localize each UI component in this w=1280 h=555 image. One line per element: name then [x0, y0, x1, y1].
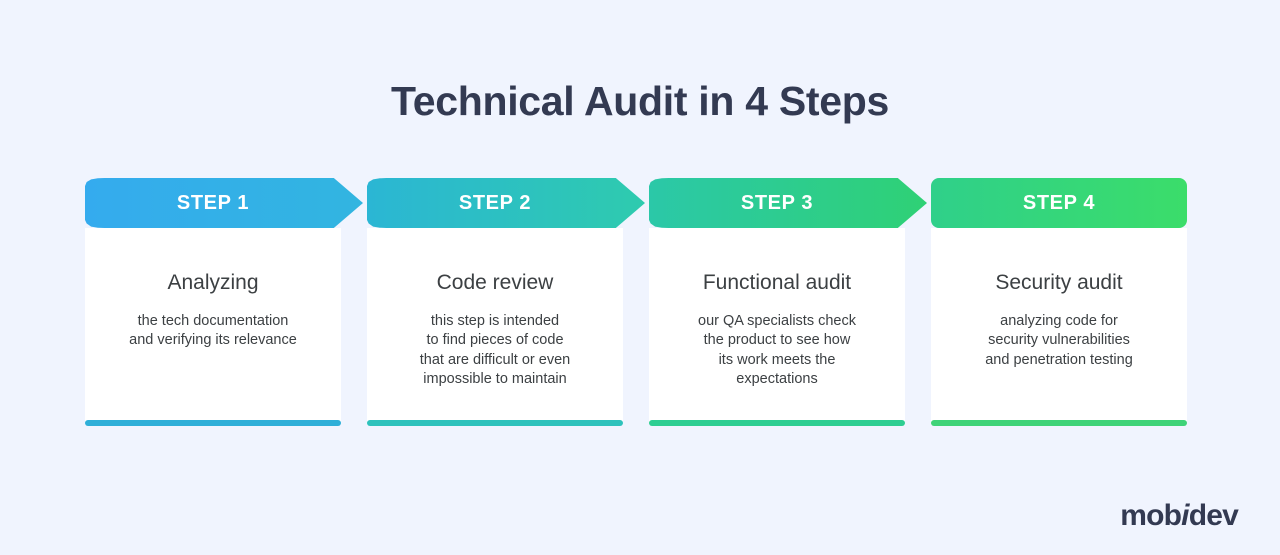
step-badge: STEP 3: [649, 178, 927, 228]
step-description: the tech documentation and verifying its…: [85, 312, 341, 350]
step-accent-bar: [931, 420, 1187, 426]
step-title: Security audit: [931, 270, 1187, 296]
step-badge: STEP 2: [367, 178, 645, 228]
step-description: analyzing code for security vulnerabilit…: [931, 312, 1187, 369]
step-badge: STEP 4: [931, 178, 1187, 228]
step-card: Analyzing the tech documentation and ver…: [85, 178, 341, 424]
step-card-body: Functional audit our QA specialists chec…: [649, 228, 905, 424]
step-accent-bar: [649, 420, 905, 426]
step-title: Functional audit: [649, 270, 905, 296]
step-description: our QA specialists check the product to …: [649, 312, 905, 389]
step-title: Code review: [367, 270, 623, 296]
logo-part-1: mob: [1120, 499, 1181, 532]
step-title: Analyzing: [85, 270, 341, 296]
page-title: Technical Audit in 4 Steps: [0, 77, 1280, 126]
step-card: Code review this step is intended to fin…: [367, 178, 623, 424]
step-card: Security audit analyzing code for securi…: [931, 178, 1187, 424]
step-card-body: Analyzing the tech documentation and ver…: [85, 228, 341, 424]
step-description: this step is intended to find pieces of …: [367, 312, 623, 389]
step-card: Functional audit our QA specialists chec…: [649, 178, 905, 424]
step-card-body: Security audit analyzing code for securi…: [931, 228, 1187, 424]
steps-row: Analyzing the tech documentation and ver…: [85, 178, 1187, 428]
step-card-body: Code review this step is intended to fin…: [367, 228, 623, 424]
logo-part-2: i: [1181, 499, 1189, 532]
step-badge: STEP 1: [85, 178, 363, 228]
step-accent-bar: [367, 420, 623, 426]
mobidev-logo: mobidev: [1120, 501, 1238, 531]
logo-part-3: dev: [1189, 499, 1238, 532]
step-accent-bar: [85, 420, 341, 426]
